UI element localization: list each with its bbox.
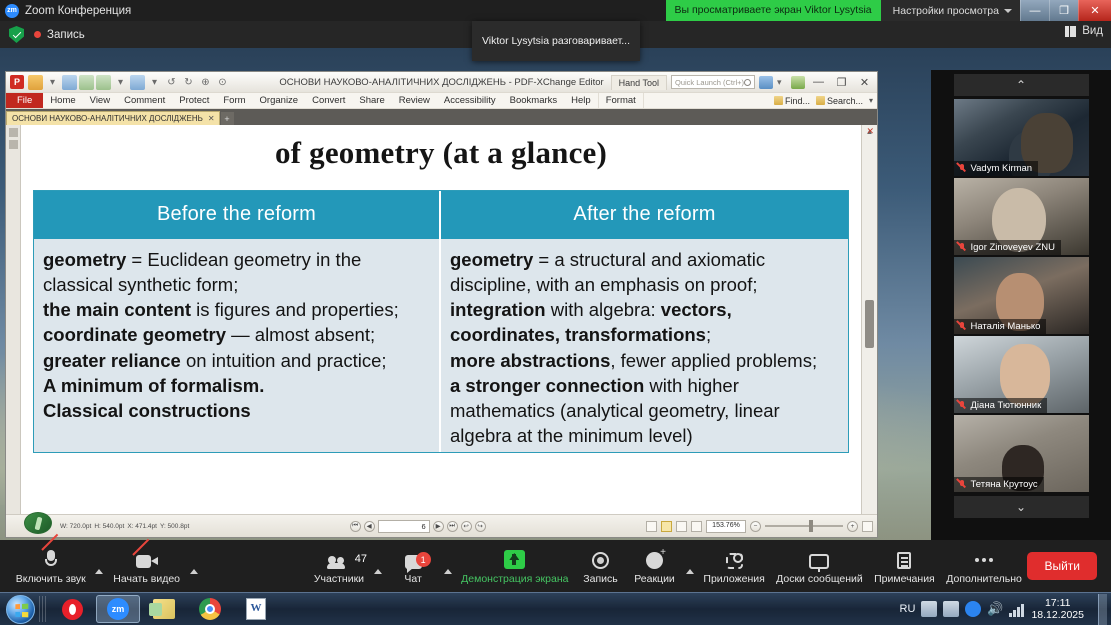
participant-filmstrip: ⌃ Vadym Kirman Igor Zinoveyev ZNU Наталі… <box>931 70 1111 540</box>
previous-page-button[interactable]: ◀ <box>364 521 375 532</box>
table-column-before: Before the reform geometry = Euclidean g… <box>34 191 441 452</box>
comparison-table: Before the reform geometry = Euclidean g… <box>33 190 849 453</box>
start-button[interactable] <box>6 595 35 624</box>
search-button[interactable]: Search... <box>816 96 863 106</box>
document-tab-label: ОСНОВИ НАУКОВО-АНАЛІТИЧНИХ ДОСЛІДЖЕНЬ <box>12 114 203 123</box>
participant-tile[interactable]: Igor Zinoveyev ZNU <box>954 178 1089 255</box>
maximize-button[interactable]: ❐ <box>1049 0 1078 21</box>
toolbar-apps-button[interactable]: Приложения <box>698 542 771 590</box>
recording-label: Запись <box>47 29 85 41</box>
table-column-after: After the reform geometry = a structural… <box>441 191 848 452</box>
participant-name-badge: Vadym Kirman <box>954 161 1039 176</box>
close-icon[interactable]: ✕ <box>208 114 215 123</box>
chevron-up-icon <box>686 569 694 574</box>
redo-icon[interactable]: ↻ <box>181 75 196 90</box>
participants-icon: 47 <box>327 547 351 569</box>
page-vertical-scrollbar[interactable]: ▲ <box>861 125 877 514</box>
menu-accessibility[interactable]: Accessibility <box>437 93 503 108</box>
column-cell-after: geometry = a structural and axiomatic di… <box>441 239 848 452</box>
toolbar-share-screen-button[interactable]: Демонстрация экрана <box>456 542 573 590</box>
participant-name-badge: Igor Zinoveyev ZNU <box>954 240 1061 255</box>
slide-text-line: geometry = a structural and axiomatic di… <box>450 247 838 297</box>
menu-bookmarks[interactable]: Bookmarks <box>503 93 565 108</box>
slide-content: of geometry (at a glance) Before the ref… <box>21 125 861 514</box>
chevron-down-icon[interactable]: ▾ <box>45 75 60 90</box>
chevron-up-icon <box>444 569 452 574</box>
column-header-after: After the reform <box>441 191 848 239</box>
pdf-stamp-icon <box>24 512 52 534</box>
participant-name: Діана Тютюнник <box>971 400 1042 411</box>
menu-review[interactable]: Review <box>392 93 437 108</box>
pdf-app-icon: P <box>10 75 24 89</box>
filmstrip-scroll-up-button[interactable]: ⌃ <box>954 74 1089 96</box>
toolbar-record-button[interactable]: Запись <box>574 542 628 590</box>
video-options-caret[interactable] <box>186 542 202 590</box>
leave-meeting-button[interactable]: Выйти <box>1027 552 1097 580</box>
participant-tile[interactable]: Діана Тютюнник <box>954 336 1089 413</box>
word-icon <box>246 598 266 620</box>
audio-options-caret[interactable] <box>91 542 107 590</box>
search-icon <box>744 79 751 86</box>
slide-text-line: geometry = Euclidean geometry in the cla… <box>43 247 429 297</box>
menu-view[interactable]: View <box>83 93 117 108</box>
chat-options-caret[interactable] <box>440 542 456 590</box>
zoom-tray-icon[interactable] <box>965 601 981 617</box>
menu-format[interactable]: Format <box>598 93 644 108</box>
menu-protect[interactable]: Protect <box>172 93 216 108</box>
slide-text-line: a stronger connection with higher mathem… <box>450 373 838 448</box>
toolbar-chat-label: Чат <box>404 573 421 585</box>
slide-text-line: the main content is figures and properti… <box>43 297 429 322</box>
undo-icon[interactable]: ↺ <box>164 75 179 90</box>
pdf-title-bar: P ▾ ▾ ▾ ↺ ↻ ⊕ ⊙ ОСНОВИ НАУКОВО-АНАЛІТИЧН… <box>6 72 877 93</box>
column-header-before: Before the reform <box>34 191 439 239</box>
show-desktop-button[interactable] <box>1098 594 1107 625</box>
quick-launch-input[interactable]: Quick Launch (Ctrl+) <box>671 75 755 89</box>
pdf-tab-bar: ОСНОВИ НАУКОВО-АНАЛІТИЧНИХ ДОСЛІДЖЕНЬ ✕ … <box>6 109 877 125</box>
zoom-meeting-toolbar: Включить звук Начать видео 47 Участники … <box>0 540 1111 592</box>
chat-icon: 1 <box>405 547 422 569</box>
shared-screen-pdf-editor: P ▾ ▾ ▾ ↺ ↻ ⊕ ⊙ ОСНОВИ НАУКОВО-АНАЛІТИЧН… <box>5 71 878 538</box>
participant-name: Тетяна Крутоус <box>971 479 1038 490</box>
camera-muted-icon <box>136 547 158 569</box>
toolbar-notes-label: Примечания <box>874 573 935 585</box>
export-excel-icon[interactable] <box>791 76 805 89</box>
keyboard-layout-icon[interactable] <box>921 601 937 617</box>
mic-muted-icon <box>958 163 967 174</box>
view-button-label: Вид <box>1082 25 1103 37</box>
mic-muted-icon <box>958 321 967 332</box>
toolbar-participants-label: Участники <box>314 573 364 585</box>
more-icon <box>975 547 993 569</box>
participant-tile[interactable]: Vadym Kirman <box>954 99 1089 176</box>
sharing-banner: Вы просматриваете экран Viktor Lysytsia <box>666 0 881 21</box>
toolbar-apps-label: Приложения <box>703 573 764 585</box>
pdf-page-canvas[interactable]: ✕ of geometry (at a glance) Before the r… <box>21 125 877 514</box>
toolbar-start-video-label: Начать видео <box>113 573 180 585</box>
close-icon[interactable]: ✕ <box>866 126 874 137</box>
taskbar-clock[interactable]: 17:11 18.12.2025 <box>1031 597 1092 621</box>
language-indicator[interactable]: RU <box>900 603 916 615</box>
mic-muted-icon <box>958 400 967 411</box>
more-tools-icon[interactable]: ⊙ <box>215 75 230 90</box>
chevron-down-icon[interactable]: ▾ <box>147 75 162 90</box>
active-speaker-toast: Viktor Lysytsia разговаривает... <box>472 21 640 61</box>
participant-tile[interactable]: Наталія Манько <box>954 257 1089 334</box>
find-icon <box>774 96 783 105</box>
grid-view-icon <box>1065 26 1077 37</box>
toolbar-chat-button[interactable]: 1 Чат <box>386 542 440 590</box>
toolbar-reactions-button[interactable]: Реакции <box>628 542 682 590</box>
view-settings-button[interactable]: Настройки просмотра <box>881 0 1020 21</box>
zoom-window-title: Zoom Конференция <box>25 5 131 17</box>
width-value: W: 720.0pt <box>60 523 91 530</box>
chrome-icon <box>199 598 221 620</box>
opera-icon <box>62 599 83 620</box>
chevron-up-icon <box>95 569 103 574</box>
toolbar-unmute-button[interactable]: Включить звук <box>10 542 91 590</box>
toolbar-participants-button[interactable]: 47 Участники <box>308 542 370 590</box>
taskbar-app-word[interactable] <box>234 595 278 623</box>
zoom-level-select[interactable]: 153.76% <box>706 520 746 533</box>
thumbnails-icon[interactable] <box>9 128 18 137</box>
single-page-view-icon[interactable] <box>646 521 657 532</box>
forward-button[interactable]: ↪ <box>475 521 486 532</box>
document-tab[interactable]: ОСНОВИ НАУКОВО-АНАЛІТИЧНИХ ДОСЛІДЖЕНЬ ✕ <box>6 111 220 125</box>
taskbar-app-notes[interactable] <box>142 595 186 623</box>
bookmarks-icon[interactable] <box>9 140 18 149</box>
close-button[interactable]: ✕ <box>1078 0 1111 21</box>
pdf-close-button[interactable]: ✕ <box>855 76 874 89</box>
view-settings-label: Настройки просмотра <box>893 5 999 17</box>
pdf-menu-bar: File Home View Comment Protect Form Orga… <box>6 93 877 109</box>
zoom-in-button[interactable]: + <box>847 521 858 532</box>
ocr-icon[interactable] <box>96 75 111 90</box>
taskbar-divider <box>39 596 46 622</box>
slide-text-line: A minimum of formalism. <box>43 373 429 398</box>
zoom-level-value: 153.76% <box>712 520 740 532</box>
chevron-down-icon[interactable]: ▾ <box>113 75 128 90</box>
menu-share[interactable]: Share <box>352 93 391 108</box>
menu-help[interactable]: Help <box>564 93 598 108</box>
quick-launch-placeholder: Quick Launch (Ctrl+) <box>675 78 744 87</box>
taskbar-app-chrome[interactable] <box>188 595 232 623</box>
participant-name-badge: Наталія Манько <box>954 319 1047 334</box>
toolbar-unmute-label: Включить звук <box>16 573 86 585</box>
next-page-button[interactable]: ▶ <box>433 521 444 532</box>
reactions-options-caret[interactable] <box>682 542 698 590</box>
slide-text-line: more abstractions, fewer applied problem… <box>450 348 838 373</box>
participant-name: Наталія Манько <box>971 321 1041 332</box>
slide-text-line: greater reliance on intuition and practi… <box>43 348 429 373</box>
taskbar-app-zoom[interactable]: zm <box>96 595 140 623</box>
taskbar-app-opera[interactable] <box>50 595 94 623</box>
toolbar-whiteboard-button[interactable]: Доски сообщений <box>771 542 869 590</box>
toolbar-more-button[interactable]: Дополнительно <box>941 542 1028 590</box>
participants-count: 47 <box>355 553 367 565</box>
volume-icon[interactable]: 🔊 <box>987 601 1003 617</box>
continuous-view-icon[interactable] <box>661 521 672 532</box>
two-page-view-icon[interactable] <box>676 521 687 532</box>
fit-page-icon[interactable] <box>691 521 702 532</box>
reactions-icon <box>646 547 663 569</box>
tray-app-icon[interactable] <box>943 601 959 617</box>
save-icon[interactable] <box>62 75 77 90</box>
recording-dot-icon <box>34 31 41 38</box>
participants-options-caret[interactable] <box>370 542 386 590</box>
windows-taskbar: zm RU 🔊 17:11 18.12.2025 <box>0 592 1111 625</box>
slide-title: of geometry (at a glance) <box>33 135 849 171</box>
participant-name: Igor Zinoveyev ZNU <box>971 242 1055 253</box>
page-dimensions: W: 720.0pt H: 540.0pt X: 471.4pt Y: 500.… <box>60 523 189 530</box>
mic-muted-icon <box>958 242 967 253</box>
participant-name: Vadym Kirman <box>971 163 1033 174</box>
mic-muted-icon <box>45 547 57 569</box>
height-value: H: 540.0pt <box>94 523 124 530</box>
zoom-slider[interactable] <box>765 525 843 527</box>
pdf-status-bar: W: 720.0pt H: 540.0pt X: 471.4pt Y: 500.… <box>6 514 877 537</box>
layout-icon[interactable] <box>759 76 773 89</box>
filmstrip-scroll-down-button[interactable]: ⌄ <box>954 496 1089 518</box>
minimize-button[interactable]: — <box>1020 0 1049 21</box>
view-and-zoom-controls: 153.76% − + <box>646 520 873 533</box>
first-page-button[interactable]: ⏮ <box>350 521 361 532</box>
view-layout-button[interactable]: Вид <box>1065 25 1103 37</box>
pdf-document-area: ✕ of geometry (at a glance) Before the r… <box>6 125 877 514</box>
whiteboard-icon <box>809 547 829 569</box>
record-icon <box>592 547 609 569</box>
chevron-down-icon[interactable]: ▾ <box>777 77 787 88</box>
chat-unread-badge: 1 <box>416 552 431 567</box>
chevron-down-icon[interactable]: ▾ <box>869 96 873 105</box>
slide-text-line: integration with algebra: vectors, coord… <box>450 297 838 347</box>
chevron-down-icon <box>1004 9 1012 13</box>
toolbar-whiteboard-label: Доски сообщений <box>776 573 863 585</box>
toolbar-share-screen-label: Демонстрация экрана <box>461 573 568 585</box>
pdf-maximize-button[interactable]: ❐ <box>832 76 851 89</box>
page-number-input[interactable]: 6 <box>378 520 430 533</box>
slide-text-line: coordinate geometry — almost absent; <box>43 322 429 347</box>
chevron-up-icon <box>374 569 382 574</box>
clock-time: 17:11 <box>1031 597 1084 609</box>
participant-tile[interactable]: Тетяна Крутоус <box>954 415 1089 492</box>
open-icon[interactable] <box>28 75 43 90</box>
zoom-out-button[interactable]: − <box>750 521 761 532</box>
toolbar-reactions-label: Реакции <box>634 573 675 585</box>
x-coordinate: X: 471.4pt <box>127 523 157 530</box>
zoom-tool-icon[interactable]: ⊕ <box>198 75 213 90</box>
print-icon[interactable] <box>130 75 145 90</box>
zoom-title-bar: zm Zoom Конференция Вы просматриваете эк… <box>0 0 1111 21</box>
menu-comment[interactable]: Comment <box>117 93 172 108</box>
page-navigation: ⏮ ◀ 6 ▶ ⏭ ↩ ↪ <box>350 520 486 533</box>
toolbar-more-label: Дополнительно <box>946 573 1022 585</box>
scrollbar-thumb[interactable] <box>865 300 874 348</box>
menu-convert[interactable]: Convert <box>305 93 352 108</box>
scan-icon[interactable] <box>79 75 94 90</box>
menu-file[interactable]: File <box>6 93 43 108</box>
pdf-minimize-button[interactable]: — <box>809 76 828 88</box>
menu-home[interactable]: Home <box>43 93 82 108</box>
last-page-button[interactable]: ⏭ <box>447 521 458 532</box>
menu-form[interactable]: Form <box>216 93 252 108</box>
participant-name-badge: Тетяна Крутоус <box>954 477 1044 492</box>
notes-icon <box>153 599 175 619</box>
new-tab-button[interactable]: + <box>221 112 234 125</box>
participant-name-badge: Діана Тютюнник <box>954 398 1048 413</box>
mic-muted-icon <box>958 479 967 490</box>
slide-text-line: Classical constructions <box>43 398 429 423</box>
find-button[interactable]: Find... <box>774 96 810 106</box>
menu-organize[interactable]: Organize <box>253 93 306 108</box>
hand-tool-tab[interactable]: Hand Tool <box>611 75 667 90</box>
quick-access-toolbar[interactable]: ▾ ▾ ▾ ↺ ↻ ⊕ ⊙ <box>28 75 230 90</box>
apps-icon <box>726 547 743 569</box>
shield-icon[interactable] <box>9 26 24 43</box>
network-icon[interactable] <box>1009 601 1025 617</box>
search-icon <box>816 96 825 105</box>
toolbar-notes-button[interactable]: Примечания <box>868 542 940 590</box>
system-tray: RU 🔊 17:11 18.12.2025 <box>900 594 1111 625</box>
back-button[interactable]: ↩ <box>461 521 472 532</box>
window-controls: — ❐ ✕ <box>1020 0 1111 21</box>
toolbar-record-label: Запись <box>583 573 617 585</box>
share-screen-icon <box>504 547 525 569</box>
chevron-up-icon <box>190 569 198 574</box>
clock-date: 18.12.2025 <box>1031 609 1084 621</box>
find-label: Find... <box>785 96 810 106</box>
toolbar-start-video-button[interactable]: Начать видео <box>107 542 185 590</box>
fullscreen-icon[interactable] <box>862 521 873 532</box>
zoom-logo-icon: zm <box>5 4 19 18</box>
search-label: Search... <box>827 96 863 106</box>
pdf-navigation-pane[interactable] <box>6 125 21 514</box>
zoom-icon: zm <box>107 598 129 620</box>
column-cell-before: geometry = Euclidean geometry in the cla… <box>34 239 439 452</box>
notes-icon <box>897 547 911 569</box>
y-coordinate: Y: 500.8pt <box>160 523 189 530</box>
